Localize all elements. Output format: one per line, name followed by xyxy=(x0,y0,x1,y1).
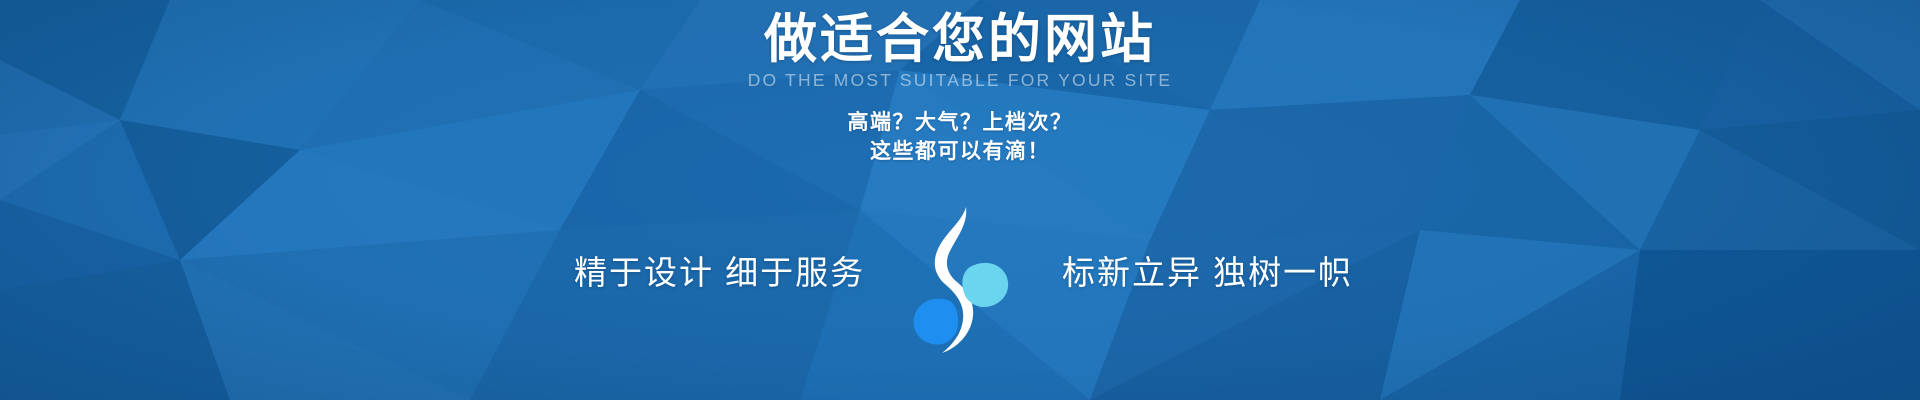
banner-content: 做适合您的网站 DO THE MOST SUITABLE FOR YOUR SI… xyxy=(0,0,1920,400)
tagline-block: 高端？大气？上档次？ 这些都可以有滴！ xyxy=(848,109,1073,167)
slogan-row: 精于设计 细于服务 标新立异 独树一帜 xyxy=(0,189,1920,355)
hero-banner: 做适合您的网站 DO THE MOST SUITABLE FOR YOUR SI… xyxy=(0,0,1920,400)
leaf-lower-shape xyxy=(914,299,959,345)
page-subtitle: DO THE MOST SUITABLE FOR YOUR SITE xyxy=(748,70,1173,91)
tagline-line-2: 这些都可以有滴！ xyxy=(848,138,1073,167)
slogan-left: 精于设计 细于服务 xyxy=(574,256,904,289)
leaf-upper-shape xyxy=(962,263,1008,307)
tagline-line-1: 高端？大气？上档次？ xyxy=(848,109,1073,138)
leaf-s-curve-logo-icon xyxy=(904,205,1016,355)
slogan-right: 标新立异 独树一帜 xyxy=(1016,256,1346,289)
page-title: 做适合您的网站 xyxy=(764,12,1156,68)
